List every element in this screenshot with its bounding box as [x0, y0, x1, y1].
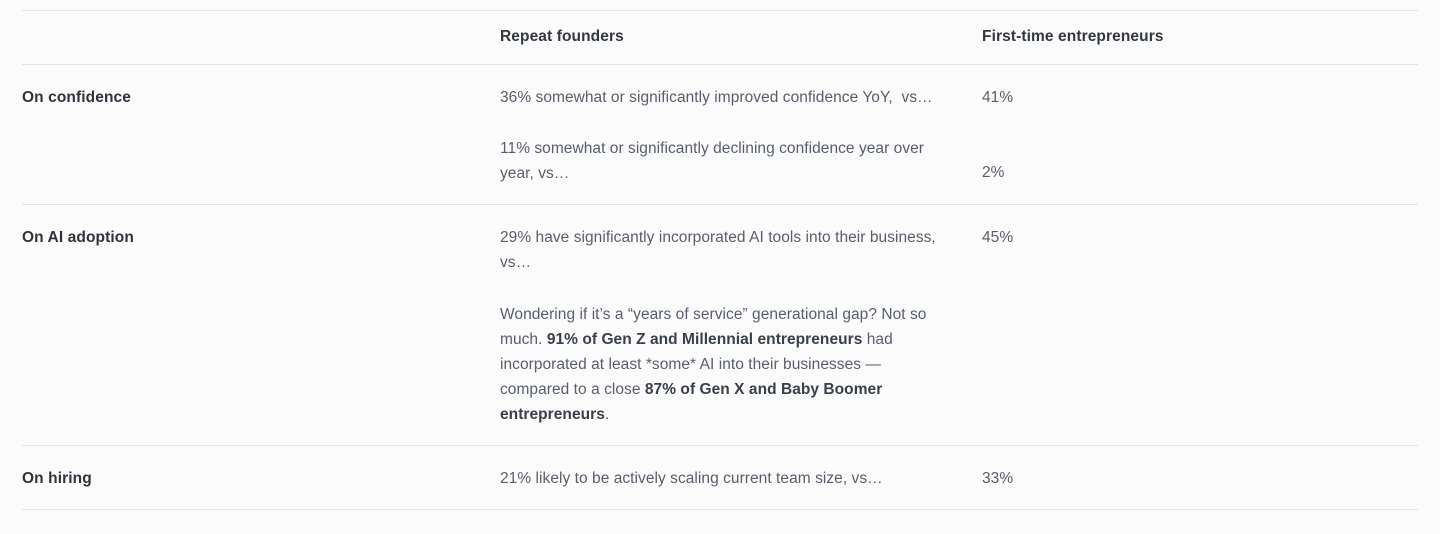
- table-row: On AI adoption 29% have significantly in…: [0, 205, 1440, 445]
- table-header-row: Repeat founders First-time entrepreneurs: [0, 11, 1440, 64]
- row-cell-repeat-founders: 29% have significantly incorporated AI t…: [500, 225, 982, 427]
- row-entry-text: 29% have significantly incorporated AI t…: [500, 225, 952, 275]
- row-entry-stat: 45%: [982, 225, 1418, 250]
- row-cell-repeat-founders: 21% likely to be actively scaling curren…: [500, 466, 982, 491]
- row-label-on-ai-adoption: On AI adoption: [22, 225, 500, 250]
- row-cell-first-time-entrepreneurs: 41% 2%: [982, 85, 1418, 185]
- comparison-table: Repeat founders First-time entrepreneurs…: [0, 10, 1440, 534]
- row-cell-repeat-founders: 36% somewhat or significantly improved c…: [500, 85, 982, 186]
- row-cell-first-time-entrepreneurs: 33%: [982, 466, 1418, 491]
- row-cell-first-time-entrepreneurs: 45%: [982, 225, 1418, 250]
- table-bottom-divider: [22, 509, 1418, 510]
- row-label-on-confidence: On confidence: [22, 85, 500, 110]
- table-row: On hiring 21% likely to be actively scal…: [0, 446, 1440, 509]
- row-entry-stat: 41%: [982, 85, 1418, 110]
- table-row: On confidence 36% somewhat or significan…: [0, 65, 1440, 204]
- row-entry-text: 11% somewhat or significantly declining …: [500, 136, 952, 186]
- row-entry-rich-text: Wondering if it’s a “years of service” g…: [500, 302, 952, 428]
- row-label-on-hiring: On hiring: [22, 466, 500, 491]
- row-entry-stat: 33%: [982, 466, 1418, 491]
- column-header-repeat-founders: Repeat founders: [500, 27, 982, 47]
- row-entry-stat: 2%: [982, 160, 1418, 185]
- row-entry-text: 21% likely to be actively scaling curren…: [500, 466, 952, 491]
- column-header-first-time-entrepreneurs: First-time entrepreneurs: [982, 27, 1418, 47]
- row-entry-text: 36% somewhat or significantly improved c…: [500, 85, 952, 110]
